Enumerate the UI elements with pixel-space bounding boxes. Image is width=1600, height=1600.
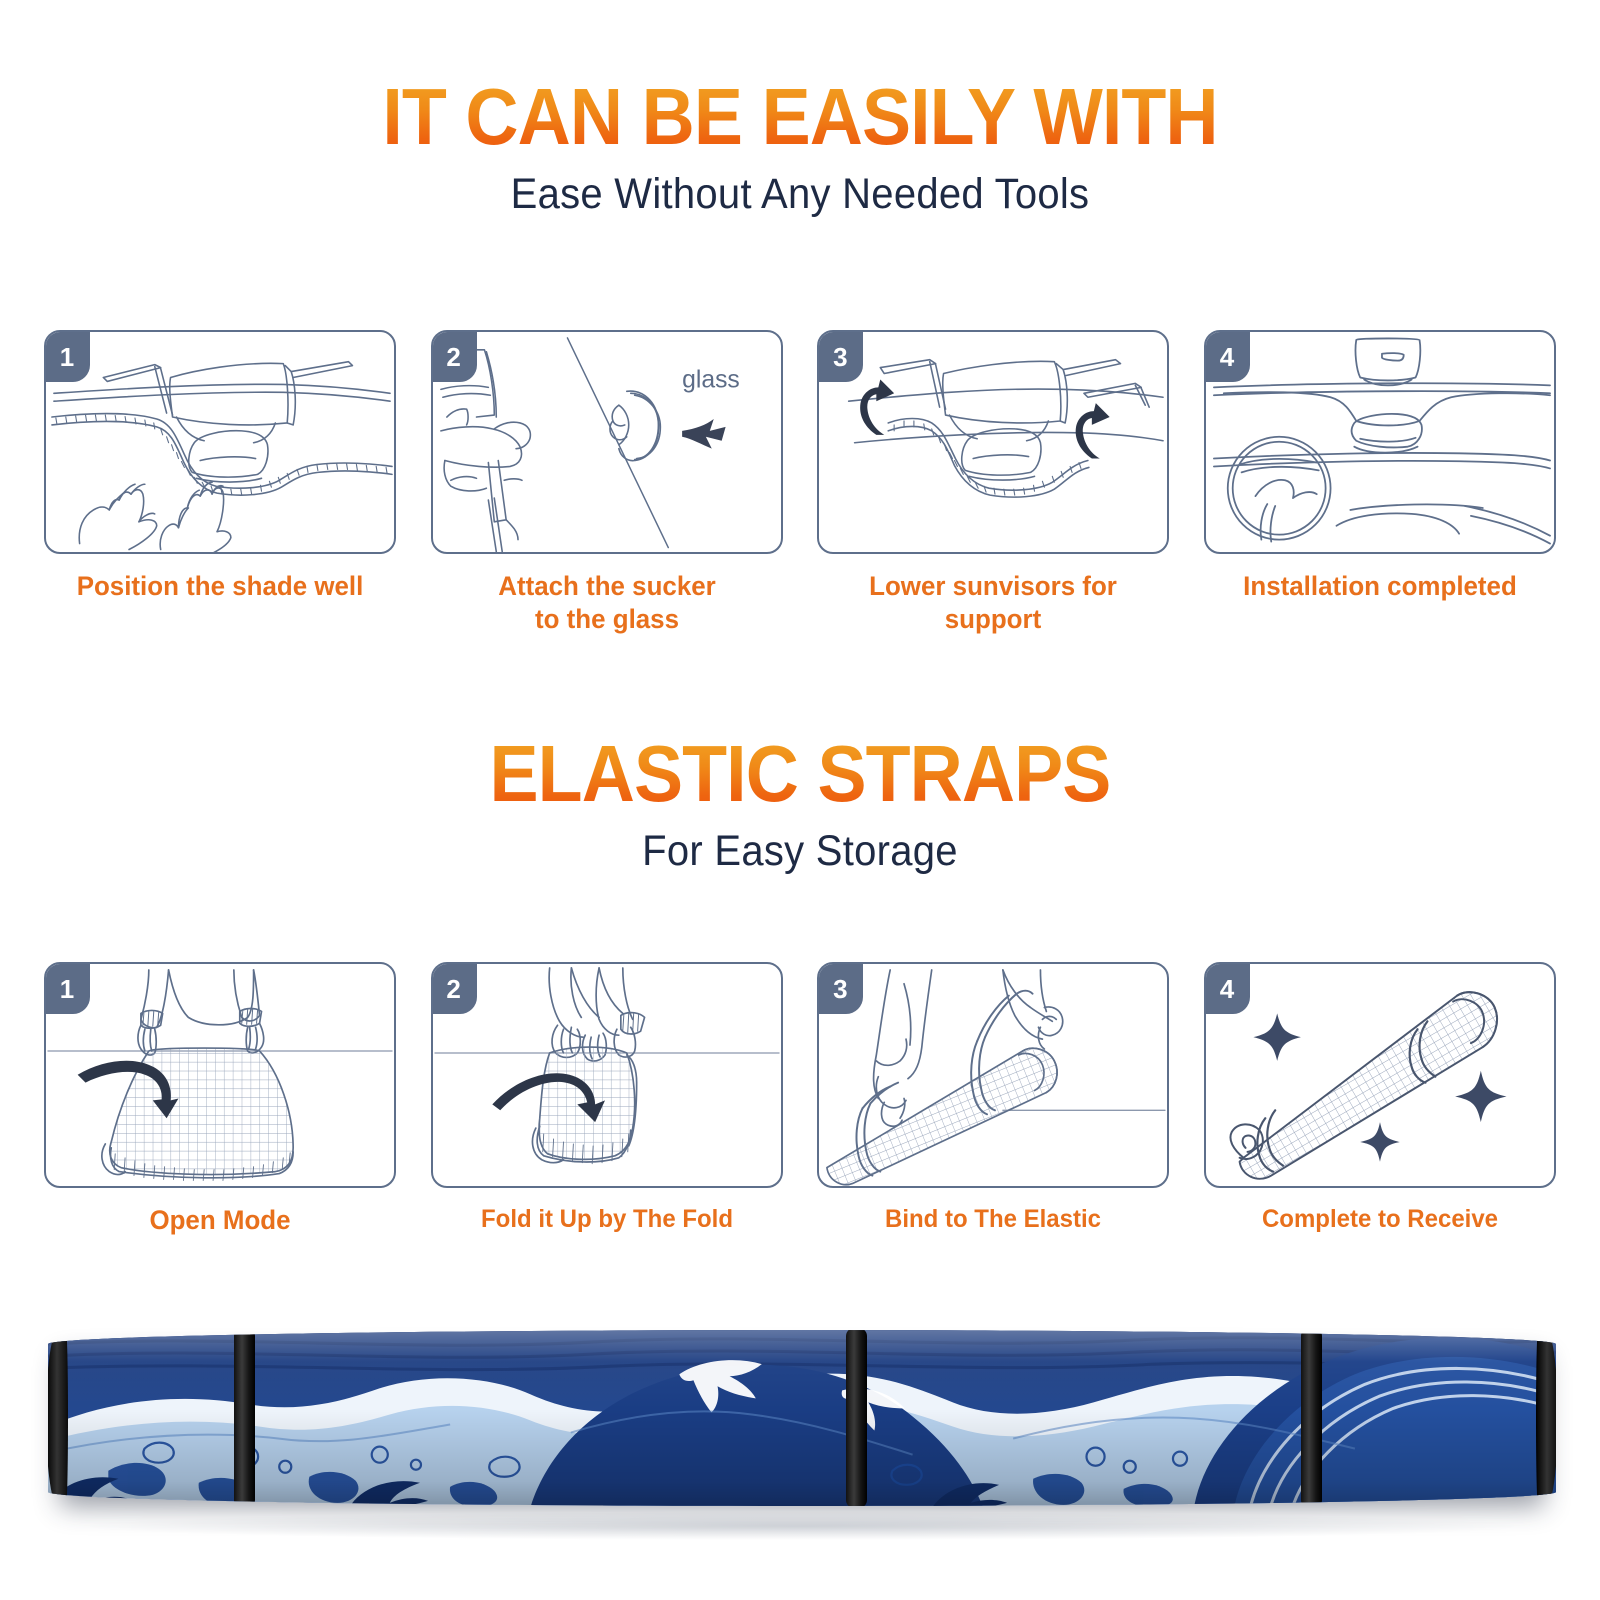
elastic-strap — [234, 1330, 255, 1506]
storage-step-4: 4 — [1204, 962, 1556, 1237]
step-number-badge: 3 — [819, 964, 863, 1014]
rolled-binding-elastic-icon — [819, 964, 1167, 1187]
step-panel: 1 — [44, 330, 396, 554]
install-step-2: 2 — [431, 330, 783, 636]
step-number-badge: 1 — [46, 332, 90, 382]
install-step-1: 1 — [44, 330, 396, 636]
step-caption: Complete to Receive — [1211, 1204, 1549, 1235]
elastic-strap — [1301, 1330, 1322, 1506]
rolled-sunshade — [48, 1330, 1556, 1506]
install-step-4: 4 — [1204, 330, 1556, 636]
step-caption: Attach the sucker to the glass — [438, 570, 776, 636]
step-caption: Open Mode — [51, 1204, 389, 1237]
step-caption: Bind to The Elastic — [824, 1204, 1162, 1235]
product-shadow — [90, 1512, 1514, 1540]
step-panel: 4 — [1204, 330, 1556, 554]
storage-step-1: 1 — [44, 962, 396, 1237]
roll-left-end — [48, 1330, 68, 1506]
step-panel: 2 — [431, 330, 783, 554]
roll-shading-overlay — [48, 1330, 1556, 1506]
section-2-subtitle: For Easy Storage — [56, 827, 1544, 876]
section-1-subtitle: Ease Without Any Needed Tools — [56, 170, 1544, 219]
infographic-page: IT CAN BE EASILY WITH Ease Without Any N… — [0, 0, 1600, 1600]
product-photo — [0, 1282, 1600, 1582]
section-1-title: IT CAN BE EASILY WITH — [64, 78, 1536, 156]
dashboard-visor-arrows-icon — [819, 332, 1167, 553]
step-number-badge: 4 — [1206, 332, 1250, 382]
step-caption: Lower sunvisors for support — [824, 570, 1162, 636]
step-panel: 2 — [431, 962, 783, 1188]
step-caption: Position the shade well — [51, 570, 389, 603]
step-number-badge: 3 — [819, 332, 863, 382]
section-2-title: ELASTIC STRAPS — [64, 735, 1536, 813]
roll-right-end — [1536, 1330, 1556, 1506]
install-steps-row: 1 — [0, 330, 1600, 636]
step-caption: Installation completed — [1211, 570, 1549, 603]
step-caption: Fold it Up by The Fold — [438, 1204, 776, 1235]
step-panel: 3 — [817, 330, 1169, 554]
section-2-heading: ELASTIC STRAPS For Easy Storage — [0, 735, 1600, 876]
glass-label: glass — [682, 366, 740, 393]
storage-step-2: 2 — [431, 962, 783, 1237]
step-number-badge: 2 — [433, 964, 477, 1014]
step-number-badge: 2 — [433, 332, 477, 382]
install-step-3: 3 — [817, 330, 1169, 636]
suction-cup-glass-icon: glass — [433, 332, 781, 553]
rolled-complete-sparkles-icon — [1206, 964, 1554, 1187]
dashboard-hands-icon — [46, 332, 394, 553]
step-panel: 4 — [1204, 962, 1556, 1188]
folded-mesh-shade-icon — [433, 964, 781, 1187]
step-panel: 1 — [44, 962, 396, 1188]
storage-step-3: 3 — [817, 962, 1169, 1237]
section-1-heading: IT CAN BE EASILY WITH Ease Without Any N… — [0, 78, 1600, 219]
open-mesh-shade-icon — [46, 964, 394, 1187]
step-number-badge: 4 — [1206, 964, 1250, 1014]
storage-steps-row: 1 — [0, 962, 1600, 1237]
interior-installed-icon — [1206, 332, 1554, 553]
elastic-strap — [846, 1330, 867, 1506]
step-number-badge: 1 — [46, 964, 90, 1014]
step-panel: 3 — [817, 962, 1169, 1188]
